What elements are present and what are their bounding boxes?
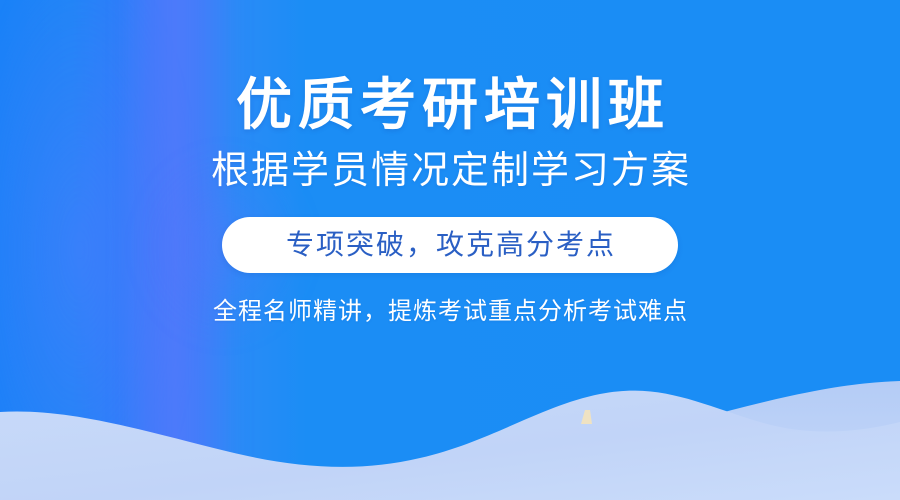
highlight-pill[interactable]: 专项突破，攻克高分考点 <box>222 217 678 273</box>
banner-headline: 优质考研培训班 <box>230 74 670 136</box>
promo-banner: 优质考研培训班 根据学员情况定制学习方案 专项突破，攻克高分考点 全程名师精讲，… <box>0 0 900 500</box>
banner-content: 优质考研培训班 根据学员情况定制学习方案 专项突破，攻克高分考点 全程名师精讲，… <box>0 0 900 500</box>
banner-subline: 根据学员情况定制学习方案 <box>209 148 691 194</box>
highlight-pill-label: 专项突破，攻克高分考点 <box>284 229 616 261</box>
banner-footline: 全程名师精讲，提炼考试重点分析考试难点 <box>212 297 688 327</box>
